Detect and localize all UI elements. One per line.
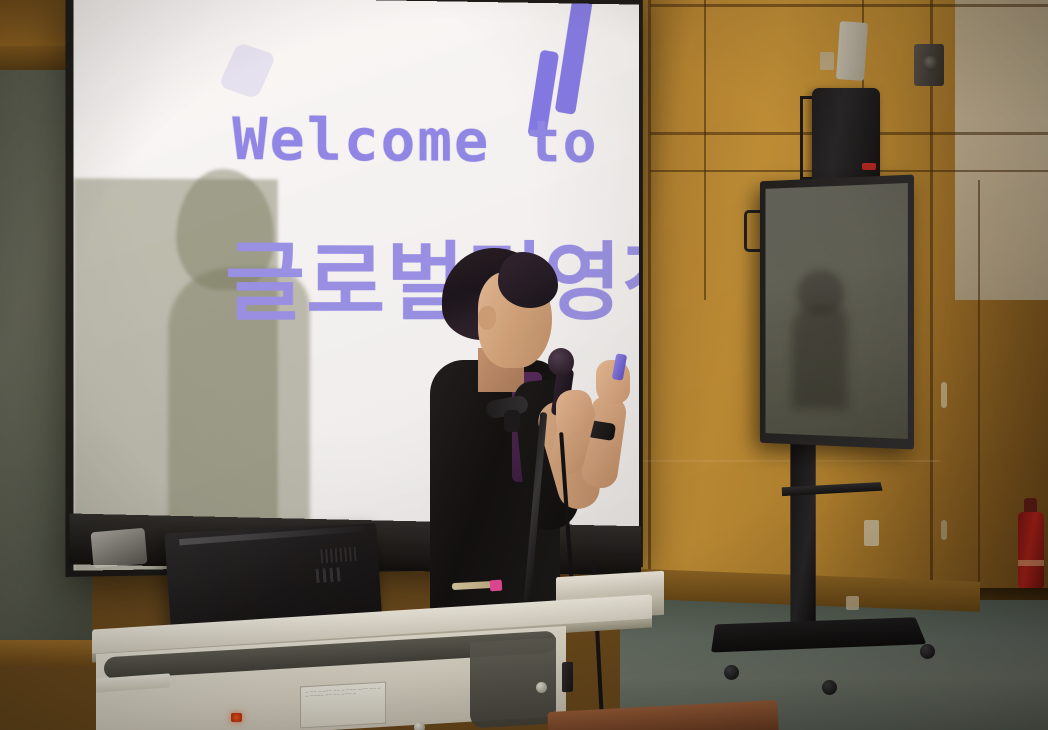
lectern-knob[interactable] <box>536 682 547 693</box>
monitor-vent <box>320 547 359 564</box>
lectern-knob[interactable] <box>414 722 425 730</box>
plastic-bag <box>91 528 148 569</box>
lecture-hall-scene: Welcome to 글로벌경영전공 <box>0 0 1048 730</box>
status-led-indicator <box>231 713 242 722</box>
presenter-ear <box>478 306 496 330</box>
lectern-latch[interactable] <box>562 662 573 693</box>
pink-marker-cap[interactable] <box>490 580 503 592</box>
lectern-sticker-text: — —— ———— —— — ——— ——— —— — — ———— —— ——… <box>305 686 381 699</box>
presenter-hair-fringe <box>498 252 558 308</box>
lectern-info-sticker: — —— ———— —— — ——— ——— —— — — ———— —— ——… <box>300 682 386 729</box>
monitor-ports <box>316 567 343 583</box>
presenter-right-hand <box>556 390 592 436</box>
mic-stand-joint <box>504 410 520 432</box>
microphone-icon[interactable] <box>548 348 574 376</box>
